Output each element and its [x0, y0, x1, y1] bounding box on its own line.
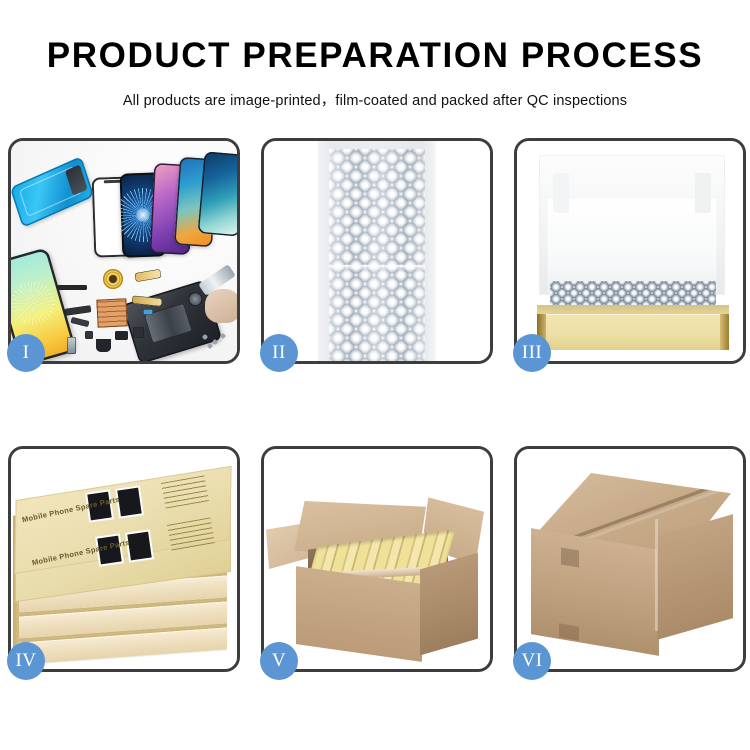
- step-image-open-outer-carton: [264, 449, 490, 669]
- step-image-stacked-printed-boxes: Mobile Phone Spare Parts Mobile Phone Sp…: [11, 449, 237, 669]
- carton-front-face: [531, 528, 659, 656]
- product-preparation-infographic: PRODUCT PREPARATION PROCESS All products…: [0, 0, 750, 750]
- step-panel-5: V: [261, 446, 493, 672]
- page-subtitle: All products are image-printed，film-coat…: [0, 89, 750, 110]
- bubble-wrap-sheet-icon: [318, 141, 436, 361]
- step-badge-3: III: [513, 334, 551, 372]
- screws-icon: [201, 333, 227, 349]
- hand-icon: [205, 289, 237, 323]
- step-image-sealed-carton: [517, 449, 743, 669]
- step-badge-6: VI: [513, 642, 551, 680]
- step-image-products-and-parts: [11, 141, 237, 361]
- carton-side-face: [657, 514, 733, 640]
- step-panel-6: VI: [514, 446, 746, 672]
- carton-corner-edge: [655, 519, 658, 632]
- step-panel-2: II: [261, 138, 493, 364]
- box-print-screen-image: [127, 532, 151, 561]
- wave-phone-display-icon: [198, 151, 237, 236]
- box-stack-icon: Mobile Phone Spare Parts Mobile Phone Sp…: [11, 449, 237, 669]
- flat-bar-part-icon: [57, 285, 87, 290]
- step-badge-1: I: [7, 334, 45, 372]
- step-image-open-inner-box: [517, 141, 743, 361]
- copper-mesh-part-icon: [96, 298, 127, 328]
- step-badge-2: II: [260, 334, 298, 372]
- step-image-bubble-wrapped-item: [264, 141, 490, 361]
- step-badge-4: IV: [7, 642, 45, 680]
- header: PRODUCT PREPARATION PROCESS All products…: [0, 0, 750, 110]
- blue-small-part-icon: [143, 309, 153, 315]
- step-panel-4: Mobile Phone Spare Parts Mobile Phone Sp…: [8, 446, 240, 672]
- carton-flap-seam-top: [561, 547, 579, 567]
- speaker-part-icon: [96, 339, 111, 352]
- step-badge-5: V: [260, 642, 298, 680]
- lid-tab-left: [553, 173, 569, 213]
- carton-front-face: [296, 566, 422, 662]
- step-panel-3: III: [514, 138, 746, 364]
- plastic-sheen: [329, 149, 425, 361]
- kraft-box-front-icon: [537, 314, 729, 350]
- small-part-icon: [85, 331, 93, 339]
- page-title: PRODUCT PREPARATION PROCESS: [0, 38, 750, 73]
- process-step-grid: I II III: [8, 138, 742, 672]
- gold-coil-part-icon: [103, 269, 123, 289]
- box-print-screen-image: [117, 488, 141, 517]
- step-panel-1: I: [8, 138, 240, 364]
- carton-side-face: [420, 553, 478, 656]
- chip-part-icon: [115, 331, 128, 340]
- white-box-lid-icon: [539, 155, 725, 295]
- lid-tab-right: [695, 173, 711, 213]
- chip-part-2-icon: [133, 327, 144, 338]
- tube-part-icon: [67, 337, 76, 354]
- wrap-seam: [329, 265, 425, 270]
